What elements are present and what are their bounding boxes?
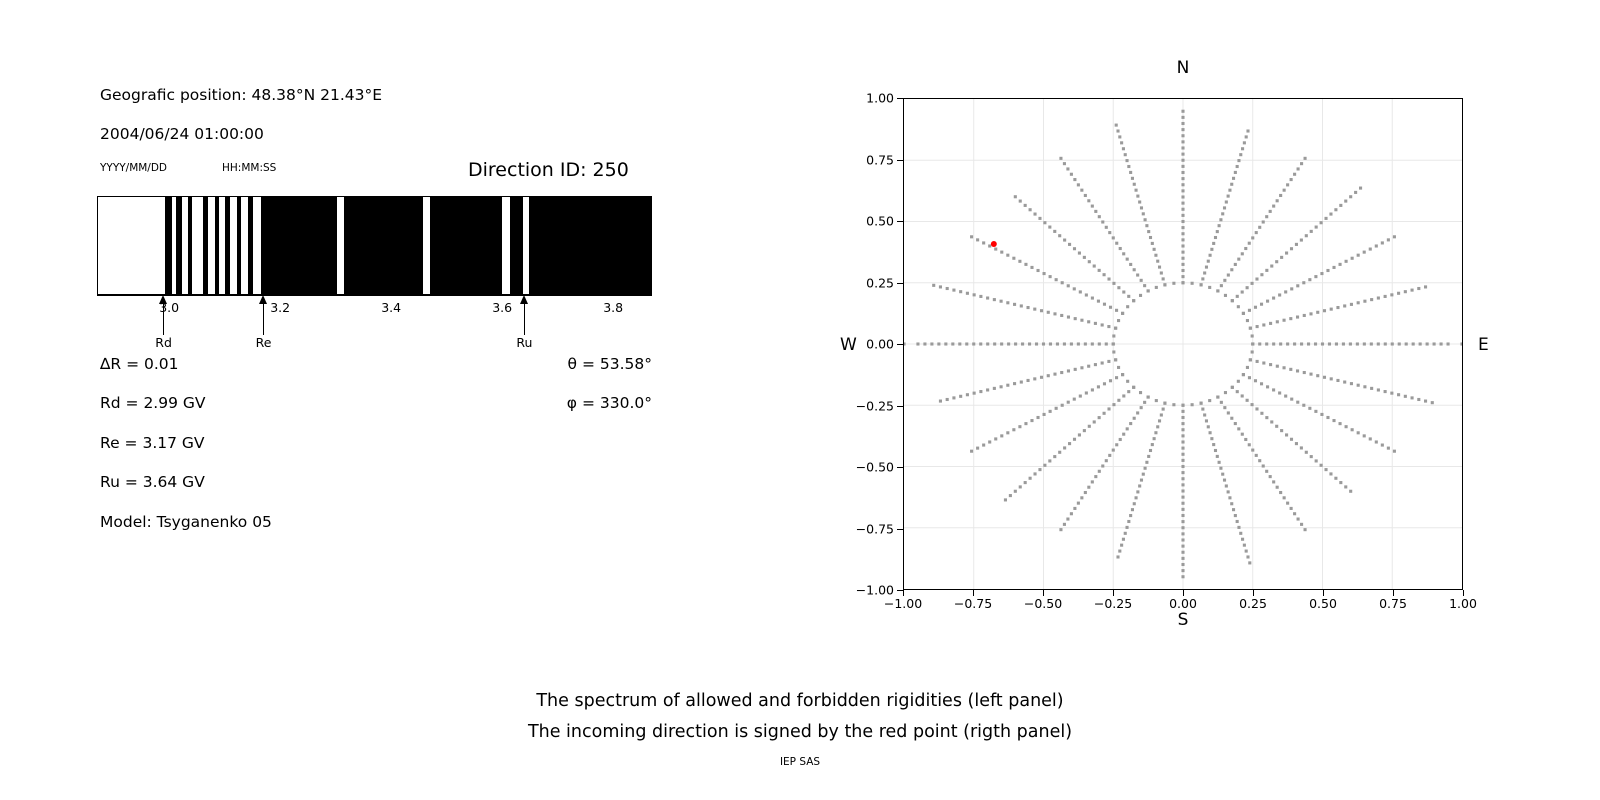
direction-point: [1162, 277, 1165, 280]
direction-point: [1344, 200, 1347, 203]
direction-point: [1109, 379, 1112, 382]
direction-point: [1218, 224, 1221, 227]
direction-point: [1077, 502, 1080, 505]
direction-point: [1117, 286, 1120, 289]
direction-point: [1363, 385, 1366, 388]
direction-point: [1132, 299, 1135, 302]
direction-point: [1316, 311, 1319, 314]
direction-point: [1241, 290, 1244, 293]
y-tick-mark: [897, 344, 903, 345]
direction-point: [1300, 239, 1303, 242]
x-tick-label: 0.00: [1169, 596, 1197, 611]
direction-point: [1158, 419, 1161, 422]
figure-caption: The spectrum of allowed and forbidden ri…: [0, 686, 1600, 748]
direction-point: [1078, 252, 1081, 255]
direction-point: [1279, 342, 1282, 345]
direction-point: [1314, 410, 1317, 413]
direction-point: [1142, 212, 1145, 215]
direction-point: [1411, 396, 1414, 399]
direction-point: [1181, 526, 1184, 529]
direction-point: [986, 342, 989, 345]
direction-point: [1129, 422, 1132, 425]
x-tick-label: 0.75: [1379, 596, 1407, 611]
direction-point: [1286, 183, 1289, 186]
direction-point: [1107, 277, 1110, 280]
direction-point: [923, 342, 926, 345]
direction-point: [1158, 266, 1161, 269]
direction-point: [1342, 342, 1345, 345]
direction-point: [1243, 544, 1246, 547]
direction-point: [1053, 455, 1056, 458]
direction-point: [1136, 411, 1139, 414]
direction-point: [1283, 189, 1286, 192]
parameter-row: ∆R = 0.01: [100, 355, 179, 373]
direction-point: [1067, 316, 1070, 319]
direction-point: [1098, 416, 1101, 419]
forbidden-band: [344, 197, 423, 294]
direction-point: [1232, 508, 1235, 511]
direction-point: [1276, 199, 1279, 202]
direction-point: [1302, 281, 1305, 284]
direction-point: [1363, 434, 1366, 437]
direction-point: [1108, 231, 1111, 234]
direction-point: [1258, 459, 1261, 462]
direction-point: [1200, 402, 1203, 405]
direction-point: [1030, 266, 1033, 269]
direction-point: [1077, 342, 1080, 345]
direction-point: [1369, 437, 1372, 440]
direction-point: [1127, 295, 1130, 298]
direction-point: [1181, 238, 1184, 241]
direction-point: [1424, 285, 1427, 288]
direction-point: [1220, 284, 1223, 287]
direction-point: [1097, 385, 1100, 388]
x-tick-mark: [1463, 590, 1464, 596]
direction-point: [1181, 183, 1184, 186]
direction-point: [946, 398, 949, 401]
direction-point: [1216, 289, 1219, 292]
direction-point: [1053, 230, 1056, 233]
direction-point: [1181, 269, 1184, 272]
direction-point: [1160, 413, 1163, 416]
direction-point: [1251, 282, 1254, 285]
forbidden-band: [188, 197, 192, 294]
direction-point: [1244, 438, 1247, 441]
direction-point: [1254, 379, 1257, 382]
direction-point: [1018, 425, 1021, 428]
forbidden-band: [248, 197, 254, 294]
direction-point: [1260, 273, 1263, 276]
forbidden-band: [176, 197, 182, 294]
direction-point: [1012, 428, 1015, 431]
direction-point: [1124, 153, 1127, 156]
direction-point: [1272, 480, 1275, 483]
direction-point: [1181, 483, 1184, 486]
caption-line-1: The spectrum of allowed and forbidden ri…: [0, 686, 1600, 717]
direction-point: [1030, 419, 1033, 422]
arrow-stem: [263, 301, 264, 335]
direction-point: [1230, 268, 1233, 271]
direction-point: [1098, 269, 1101, 272]
direction-point: [1181, 189, 1184, 192]
direction-point: [1155, 286, 1158, 289]
direction-plot-area: [903, 98, 1463, 590]
direction-point: [1251, 449, 1254, 452]
direction-point: [1208, 399, 1211, 402]
direction-point: [1070, 512, 1073, 515]
direction-point: [1279, 194, 1282, 197]
direction-point: [1126, 258, 1129, 261]
direction-point: [1181, 404, 1184, 407]
direction-point: [1026, 379, 1029, 382]
direction-point: [1309, 373, 1312, 376]
direction-point: [1024, 422, 1027, 425]
direction-point: [1074, 317, 1077, 320]
direction-point: [1181, 134, 1184, 137]
direction-point: [1112, 236, 1115, 239]
direction-point: [1320, 221, 1323, 224]
direction-point: [1181, 214, 1184, 217]
direction-point: [1285, 252, 1288, 255]
direction-point: [1122, 433, 1125, 436]
direction-point: [1279, 491, 1282, 494]
direction-point: [1283, 496, 1286, 499]
direction-point: [1068, 442, 1071, 445]
direction-point: [1047, 311, 1050, 314]
direction-point: [1272, 297, 1275, 300]
direction-point: [1083, 256, 1086, 259]
direction-point: [1207, 260, 1210, 263]
direction-point: [1000, 342, 1003, 345]
direction-point: [1290, 398, 1293, 401]
direction-point: [1241, 538, 1244, 541]
direction-point: [1129, 263, 1132, 266]
direction-point: [1212, 242, 1215, 245]
direction-point: [1424, 400, 1427, 403]
direction-point: [1181, 569, 1184, 572]
direction-point: [1310, 230, 1313, 233]
spectrum-plot-area: [97, 196, 652, 295]
direction-point: [1115, 376, 1118, 379]
direction-point: [1084, 194, 1087, 197]
direction-point: [1119, 438, 1122, 441]
direction-point: [1006, 301, 1009, 304]
direction-point: [1210, 437, 1213, 440]
direction-point: [1094, 363, 1097, 366]
direction-point: [1245, 135, 1248, 138]
direction-point: [1153, 437, 1156, 440]
direction-point: [1315, 226, 1318, 229]
direction-point: [1073, 178, 1076, 181]
direction-point: [1093, 420, 1096, 423]
direction-point: [1286, 342, 1289, 345]
direction-point: [1332, 419, 1335, 422]
direction-point: [1440, 342, 1443, 345]
spectrum-x-axis: 3.03.23.43.63.8RdReRu: [97, 295, 652, 297]
direction-point: [1118, 550, 1121, 553]
direction-point: [1356, 342, 1359, 345]
direction-point: [982, 444, 985, 447]
direction-point: [1300, 342, 1303, 345]
direction-point: [1244, 247, 1247, 250]
direction-point: [1255, 277, 1258, 280]
direction-point: [1220, 401, 1223, 404]
direction-point: [1000, 434, 1003, 437]
direction-point: [1043, 464, 1046, 467]
direction-point: [986, 296, 989, 299]
direction-point: [1203, 413, 1206, 416]
direction-point: [1357, 384, 1360, 387]
direction-point: [1221, 212, 1224, 215]
direction-point: [1237, 305, 1240, 308]
direction-point: [952, 396, 955, 399]
direction-point: [1004, 498, 1007, 501]
direction-point: [1115, 124, 1118, 127]
direction-point: [1112, 350, 1115, 353]
direction-point: [1375, 440, 1378, 443]
direction-point: [1121, 312, 1124, 315]
direction-point: [1224, 294, 1227, 297]
direction-point: [1246, 555, 1249, 558]
x-tick-label: 3.8: [603, 300, 623, 315]
direction-point: [1295, 442, 1298, 445]
forbidden-band: [529, 197, 652, 294]
direction-point: [1285, 433, 1288, 436]
direction-point: [1049, 342, 1052, 345]
direction-point: [1236, 520, 1239, 523]
direction-point: [1122, 290, 1125, 293]
direction-point: [1073, 507, 1076, 510]
direction-point: [1181, 489, 1184, 492]
direction-point: [1145, 461, 1148, 464]
direction-point: [1232, 177, 1235, 180]
direction-point: [1390, 293, 1393, 296]
direction-point: [1207, 425, 1210, 428]
compass-west-label: W: [840, 335, 857, 355]
direction-point: [1404, 290, 1407, 293]
direction-point: [976, 447, 979, 450]
direction-point: [1300, 162, 1303, 165]
direction-point: [970, 235, 973, 238]
direction-point: [1181, 416, 1184, 419]
direction-point: [1286, 502, 1289, 505]
direction-point: [1377, 296, 1380, 299]
direction-point: [1269, 475, 1272, 478]
direction-point: [1270, 264, 1273, 267]
direction-point: [1225, 200, 1228, 203]
y-tick-mark: [897, 160, 903, 161]
direction-point: [1181, 459, 1184, 462]
direction-point: [1205, 266, 1208, 269]
direction-point: [1262, 323, 1265, 326]
direction-point: [1000, 300, 1003, 303]
direction-point: [1101, 323, 1104, 326]
datetime-text: 2004/06/24 01:00:00: [100, 125, 264, 143]
direction-point: [1344, 485, 1347, 488]
direction-point: [1112, 334, 1115, 337]
direction-point: [1272, 205, 1275, 208]
direction-point: [1237, 427, 1240, 430]
direction-point: [1201, 277, 1204, 280]
direction-point: [1303, 371, 1306, 374]
direction-point: [1181, 502, 1184, 505]
direction-point: [1304, 528, 1307, 531]
incoming-direction-marker[interactable]: [991, 241, 997, 247]
parameter-row: Model: Tsyganenko 05: [100, 513, 272, 531]
direction-point: [979, 390, 982, 393]
direction-point: [1245, 550, 1248, 553]
direction-point: [1237, 159, 1240, 162]
direction-point: [1191, 282, 1194, 285]
date-format-hint: YYYY/MM/DD: [100, 162, 167, 174]
direction-point: [966, 292, 969, 295]
direction-point: [1231, 299, 1234, 302]
direction-point: [1133, 183, 1136, 186]
direction-point: [1067, 284, 1070, 287]
direction-point: [1293, 342, 1296, 345]
direction-point: [1149, 236, 1152, 239]
direction-point: [1000, 385, 1003, 388]
direction-point: [1419, 342, 1422, 345]
direction-point: [1262, 361, 1265, 364]
direction-point: [1330, 308, 1333, 311]
direction-point: [1103, 303, 1106, 306]
direction-point: [1024, 481, 1027, 484]
direction-point: [1218, 461, 1221, 464]
direction-point: [1411, 289, 1414, 292]
direction-point: [1323, 376, 1326, 379]
direction-point: [1181, 575, 1184, 578]
direction-point: [1248, 443, 1251, 446]
direction-point: [1181, 557, 1184, 560]
direction-point: [1048, 226, 1051, 229]
direction-point: [1098, 342, 1101, 345]
direction-point: [1417, 398, 1420, 401]
direction-point: [1225, 484, 1228, 487]
direction-point: [1006, 431, 1009, 434]
y-tick-mark: [897, 221, 903, 222]
direction-point: [1384, 390, 1387, 393]
direction-point: [982, 241, 985, 244]
arrow-stem: [163, 301, 164, 335]
direction-point: [1381, 241, 1384, 244]
direction-point: [1103, 382, 1106, 385]
direction-point: [1349, 342, 1352, 345]
direction-point: [1357, 431, 1360, 434]
direction-point: [1136, 195, 1139, 198]
direction-point: [1139, 391, 1142, 394]
direction-point: [1241, 147, 1244, 150]
direction-point: [1156, 260, 1159, 263]
direction-point: [1216, 455, 1219, 458]
direction-point: [1241, 252, 1244, 255]
direction-point: [1181, 477, 1184, 480]
direction-scatter-svg: [904, 99, 1462, 589]
direction-point: [1265, 416, 1268, 419]
direction-point: [1033, 472, 1036, 475]
direction-point: [1112, 449, 1115, 452]
direction-point: [1155, 399, 1158, 402]
incoming-direction-point: [991, 241, 997, 247]
direction-point: [1140, 479, 1143, 482]
y-tick-label: 0.50: [866, 214, 894, 229]
direction-point: [1283, 366, 1286, 369]
direction-point: [1181, 422, 1184, 425]
direction-point: [1131, 177, 1134, 180]
direction-point: [1309, 312, 1312, 315]
direction-point: [1028, 342, 1031, 345]
direction-point: [1203, 271, 1206, 274]
forbidden-band: [261, 197, 337, 294]
direction-point: [1304, 157, 1307, 160]
direction-point: [1084, 491, 1087, 494]
direction-point: [1055, 278, 1058, 281]
direction-point: [1153, 248, 1156, 251]
incoming-direction-panel: N S W E −1.00−0.75−0.50−0.250.000.250.50…: [830, 40, 1570, 660]
direction-point: [1236, 295, 1239, 298]
forbidden-band: [430, 197, 502, 294]
direction-point: [1334, 208, 1337, 211]
direction-point: [1370, 298, 1373, 301]
direction-point: [1219, 467, 1222, 470]
direction-point: [1126, 427, 1129, 430]
direction-point: [1246, 366, 1249, 369]
rigidity-spectrum-panel: Geografic position: 48.38°N 21.43°E 2004…: [0, 0, 760, 660]
direction-point: [1335, 342, 1338, 345]
x-tick-label: 3.2: [270, 300, 290, 315]
direction-point: [1276, 320, 1279, 323]
direction-point: [1181, 453, 1184, 456]
direction-point: [1251, 342, 1254, 345]
direction-point: [1073, 287, 1076, 290]
direction-point: [1230, 183, 1233, 186]
direction-point: [1138, 200, 1141, 203]
direction-point: [1114, 327, 1117, 330]
direction-point: [1091, 388, 1094, 391]
direction-point: [1074, 368, 1077, 371]
direction-point: [1265, 215, 1268, 218]
direction-point: [1066, 518, 1069, 521]
direction-point: [1094, 322, 1097, 325]
direction-point: [1330, 377, 1333, 380]
direction-point: [1059, 528, 1062, 531]
direction-point: [1122, 147, 1125, 150]
direction-point: [1209, 254, 1212, 257]
direction-point: [1433, 342, 1436, 345]
direction-point: [1040, 309, 1043, 312]
direction-point: [1321, 342, 1324, 345]
direction-point: [973, 293, 976, 296]
parameter-row: Ru = 3.64 GV: [100, 473, 205, 491]
direction-point: [1181, 410, 1184, 413]
direction-point: [1398, 342, 1401, 345]
direction-point: [1060, 314, 1063, 317]
direction-point: [1255, 407, 1258, 410]
direction-point: [1098, 215, 1101, 218]
direction-point: [1085, 391, 1088, 394]
direction-point: [1029, 208, 1032, 211]
direction-point: [1181, 440, 1184, 443]
direction-point: [1208, 286, 1211, 289]
direction-point: [1181, 122, 1184, 125]
direction-point: [1265, 342, 1268, 345]
direction-point: [1230, 417, 1233, 420]
direction-point: [1147, 396, 1150, 399]
direction-point: [1242, 312, 1245, 315]
x-tick-mark: [973, 590, 974, 596]
direction-point: [1014, 342, 1017, 345]
direction-point: [1009, 494, 1012, 497]
